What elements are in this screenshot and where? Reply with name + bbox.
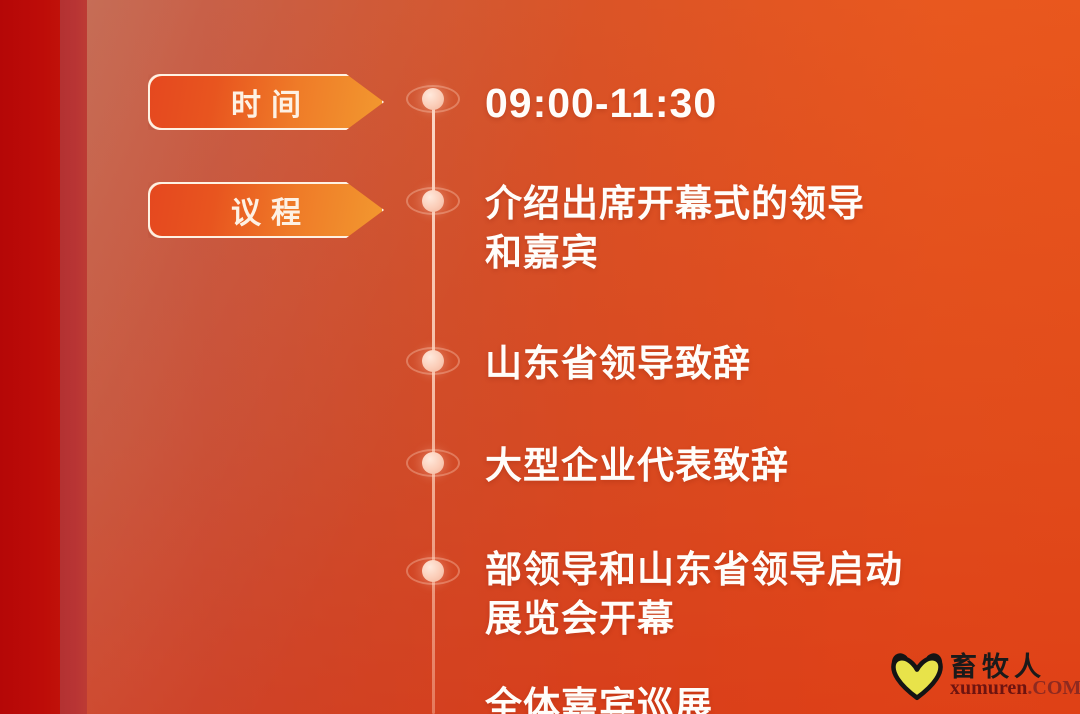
agenda-item-1: 介绍出席开幕式的领导 和嘉宾 xyxy=(485,180,1065,278)
timeline-dot-3 xyxy=(422,350,444,372)
badge-agenda-label: 议程 xyxy=(221,188,311,232)
timeline-dot-4 xyxy=(422,452,444,474)
timeline-dot-1 xyxy=(422,88,444,110)
agenda-item-3: 大型企业代表致辞 xyxy=(485,442,1045,491)
watermark-en-text: xumuren.COM xyxy=(950,678,1080,698)
schedule-time-value: 09:00-11:30 xyxy=(485,76,1045,130)
left-deep-red-band xyxy=(0,0,60,714)
agenda-item-4: 部领导和山东省领导启动 展览会开幕 xyxy=(485,546,1065,644)
site-watermark: 畜牧人 xumuren.COM xyxy=(888,642,1074,710)
left-mid-red-band xyxy=(60,0,87,714)
watermark-en-name: xumuren xyxy=(950,677,1027,699)
agenda-item-2: 山东省领导致辞 xyxy=(485,340,1045,389)
badge-agenda: 议程 xyxy=(148,182,384,238)
heart-logo-icon xyxy=(888,647,946,705)
badge-time-label: 时间 xyxy=(221,80,311,124)
badge-agenda-shape: 议程 xyxy=(148,182,384,238)
timeline-dot-2 xyxy=(422,190,444,212)
timeline-dot-5 xyxy=(422,560,444,582)
watermark-text-group: 畜牧人 xumuren.COM xyxy=(950,654,1080,698)
watermark-en-suffix: .COM xyxy=(1027,677,1080,699)
poster-canvas: 时间 议程 09:00-11:30 介绍出席开幕式的领导 和嘉宾 山东省领导致辞… xyxy=(0,0,1080,714)
badge-time-shape: 时间 xyxy=(148,74,384,130)
badge-time: 时间 xyxy=(148,74,384,130)
